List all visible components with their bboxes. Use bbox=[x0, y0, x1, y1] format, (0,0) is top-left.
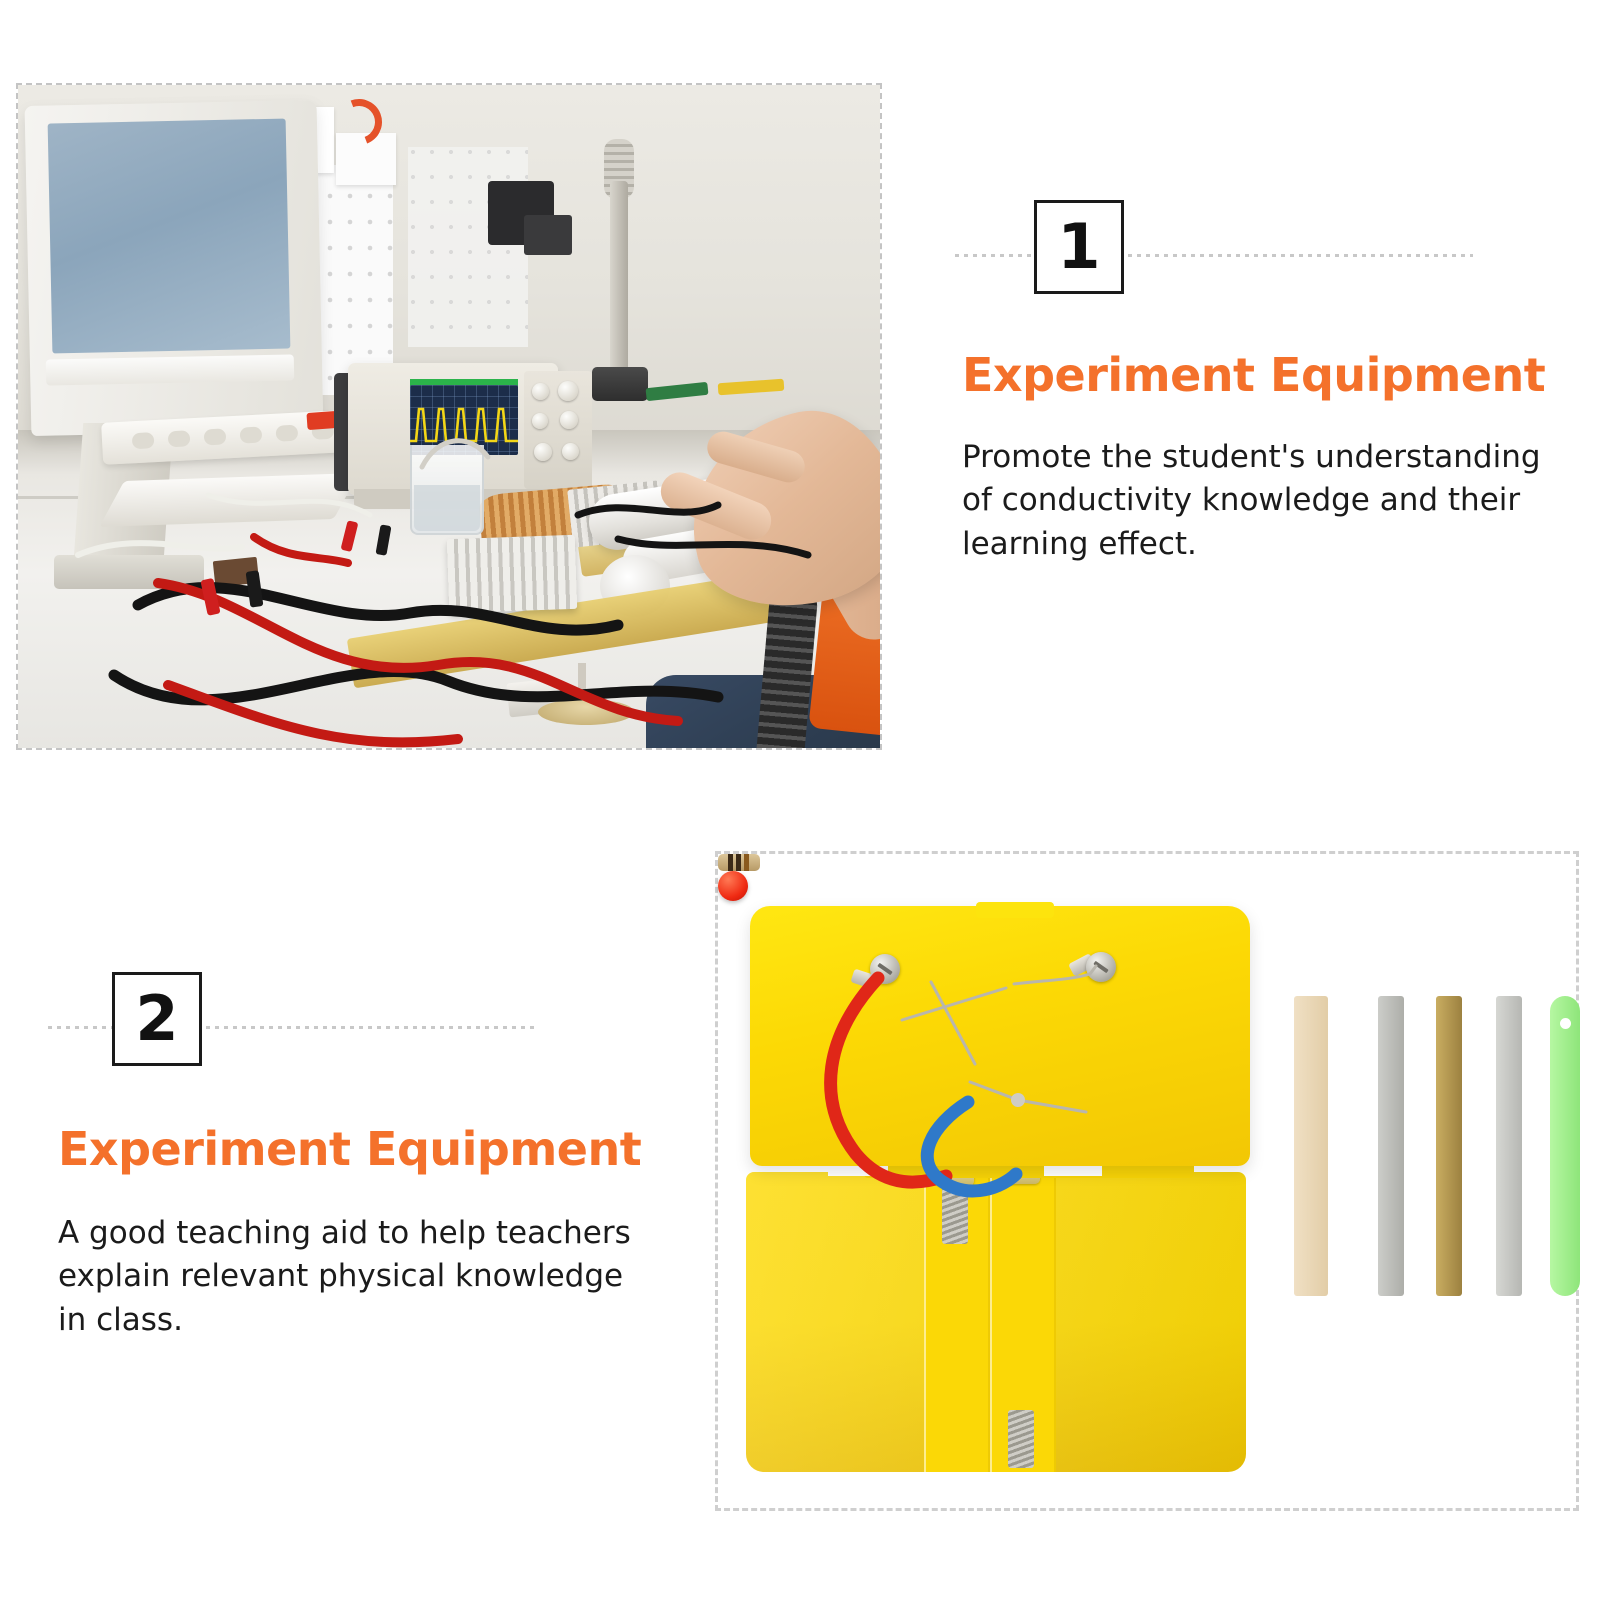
conductivity-tester-photo bbox=[715, 851, 1579, 1511]
section-1-divider-right bbox=[1128, 254, 1473, 257]
section-2-title: Experiment Equipment bbox=[58, 1122, 641, 1176]
section-1-body-line-1: Promote the student's understanding bbox=[962, 436, 1562, 479]
section-1-number: 1 bbox=[1057, 216, 1100, 278]
section-1-body: Promote the student's understanding of c… bbox=[962, 436, 1562, 566]
test-strip-brass bbox=[1436, 996, 1462, 1296]
section-2-body-line-2: explain relevant physical knowledge bbox=[58, 1255, 698, 1298]
lab-bench-photo bbox=[18, 85, 880, 748]
section-1-body-line-2: of conductivity knowledge and their bbox=[962, 479, 1562, 522]
test-strip-wood bbox=[1294, 996, 1328, 1296]
plastic-strip-hole-icon bbox=[1560, 1018, 1571, 1029]
section-1-number-badge: 1 bbox=[1034, 200, 1124, 294]
section-2-number: 2 bbox=[135, 988, 178, 1050]
section-1-title: Experiment Equipment bbox=[962, 348, 1545, 402]
test-strip-plastic bbox=[1550, 996, 1580, 1296]
section-2-body-line-1: A good teaching aid to help teachers bbox=[58, 1212, 698, 1255]
section-1-body-line-3: learning effect. bbox=[962, 523, 1562, 566]
section-2-divider-right bbox=[206, 1026, 536, 1029]
section-1-divider-left bbox=[955, 254, 1035, 257]
test-strip-aluminum bbox=[1496, 996, 1522, 1296]
section-2-number-badge: 2 bbox=[112, 972, 202, 1066]
section-2-body-line-3: in class. bbox=[58, 1299, 698, 1342]
section-2-divider-left bbox=[48, 1026, 114, 1029]
infographic-page: 1 Experiment Equipment Promote the stude… bbox=[0, 0, 1600, 1600]
test-lead-cables-icon bbox=[18, 85, 880, 748]
test-strip-zinc bbox=[1378, 996, 1404, 1296]
section-2-body: A good teaching aid to help teachers exp… bbox=[58, 1212, 698, 1342]
